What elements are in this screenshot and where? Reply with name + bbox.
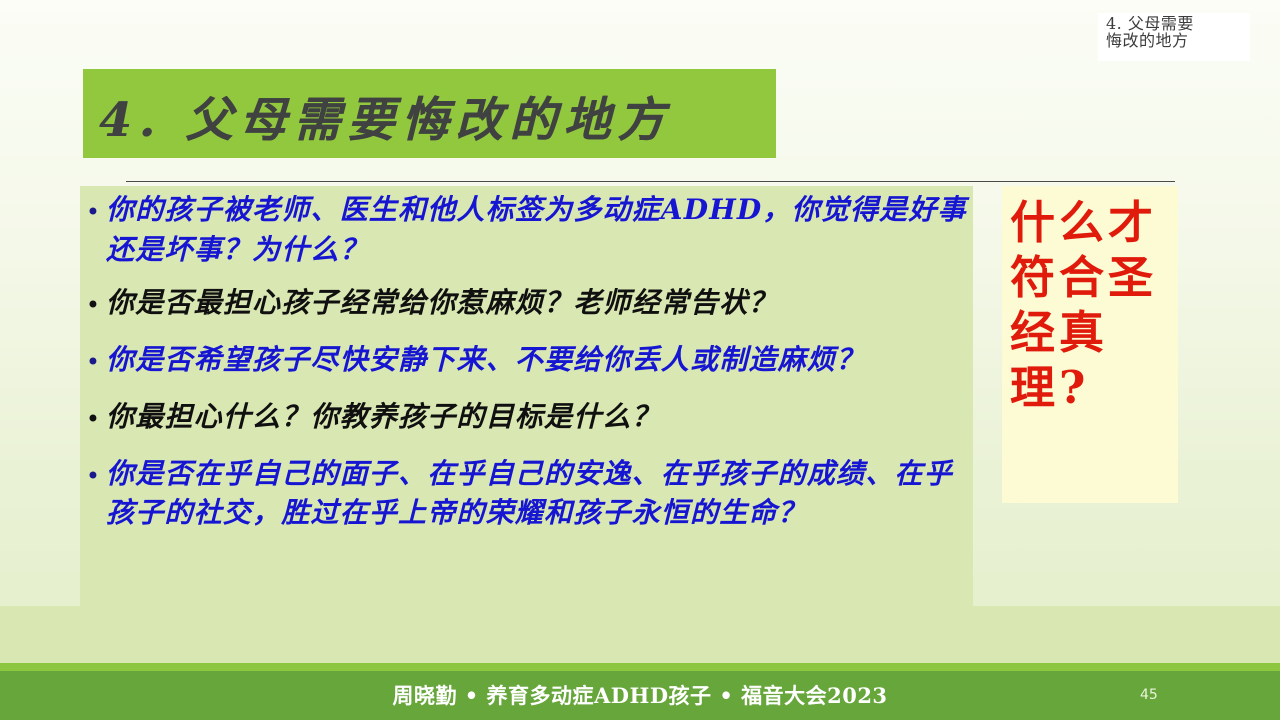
list-item-text: 你的孩子被老师、医生和他人标签为多动症ADHD，你觉得是好事还是坏事？为什么？ [106, 190, 980, 270]
bullet-dot-icon: • [80, 397, 106, 441]
bullet-dot-icon: • [80, 190, 106, 234]
list-item: • 你的孩子被老师、医生和他人标签为多动症ADHD，你觉得是好事还是坏事？为什么… [80, 190, 980, 270]
footer-text: 周晓勤 • 养育多动症ADHD孩子 • 福音大会2023 [0, 680, 1280, 710]
list-item: • 你最担心什么？你教养孩子的目标是什么？ [80, 397, 980, 441]
list-item-text: 你是否希望孩子尽快安静下来、不要给你丢人或制造麻烦？ [106, 340, 980, 380]
title-divider [126, 181, 1175, 182]
list-item: • 你是否希望孩子尽快安静下来、不要给你丢人或制造麻烦？ [80, 340, 980, 384]
footer-accent-strip [0, 663, 1280, 671]
list-item-text: 你是否最担心孩子经常给你惹麻烦？老师经常告状？ [106, 283, 980, 323]
callout-text: 什么才符合圣经真理? [1010, 196, 1172, 416]
list-item-text: 你是否在乎自己的面子、在乎自己的安逸、在乎孩子的成绩、在乎孩子的社交，胜过在乎上… [106, 454, 980, 534]
page-title: 4. 父母需要悔改的地方 [99, 81, 671, 150]
bullet-dot-icon: • [80, 283, 106, 327]
bottom-band [0, 606, 1280, 663]
list-item-text: 你最担心什么？你教养孩子的目标是什么？ [106, 397, 980, 437]
bullet-list: • 你的孩子被老师、医生和他人标签为多动症ADHD，你觉得是好事还是坏事？为什么… [80, 190, 980, 546]
corner-title-line-1: 4. 父母需要 [1106, 15, 1244, 32]
list-item: • 你是否最担心孩子经常给你惹麻烦？老师经常告状？ [80, 283, 980, 327]
callout-box: 什么才符合圣经真理? [1002, 186, 1178, 503]
corner-title-box: 4. 父母需要 悔改的地方 [1098, 13, 1250, 61]
slide-canvas: 4. 父母需要 悔改的地方 4. 父母需要悔改的地方 • 你的孩子被老师、医生和… [0, 0, 1280, 720]
bullet-dot-icon: • [80, 340, 106, 384]
list-item: • 你是否在乎自己的面子、在乎自己的安逸、在乎孩子的成绩、在乎孩子的社交，胜过在… [80, 454, 980, 534]
page-number: 45 [1140, 687, 1158, 703]
bullet-dot-icon: • [80, 454, 106, 498]
corner-title-line-2: 悔改的地方 [1106, 32, 1244, 49]
title-banner: 4. 父母需要悔改的地方 [83, 69, 776, 158]
